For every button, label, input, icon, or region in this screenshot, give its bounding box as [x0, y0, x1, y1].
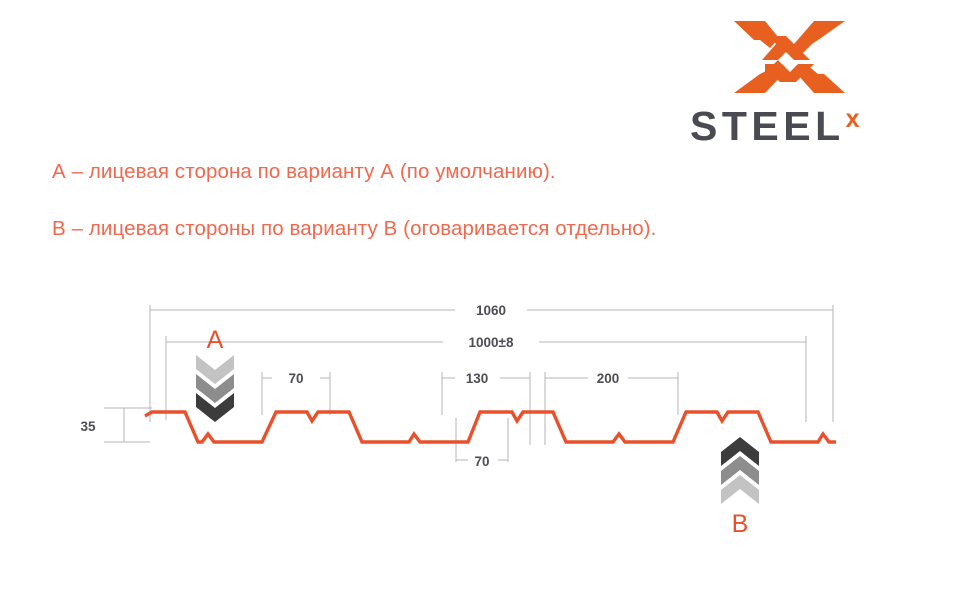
dimension-label-1060: 1060: [476, 303, 506, 318]
logo-superscript-text: x: [846, 107, 860, 132]
description-variant-b: В – лицевая стороны по варианту В (огова…: [52, 217, 656, 241]
steelx-x-mark-icon: [732, 18, 847, 96]
marker-a: А: [196, 326, 234, 422]
logo-wordmark: STEEL x: [690, 106, 905, 148]
profile-cross-section-drawing: 1060 1000±8 70 130 200 70 35 А B: [0, 270, 970, 570]
logo-word-text: STEEL: [690, 106, 845, 147]
dimension-label-valley-70: 70: [474, 454, 489, 469]
marker-b: B: [721, 437, 759, 538]
dimension-label-200: 200: [597, 371, 620, 386]
profile-outline-path: [145, 412, 836, 442]
dimension-label-130: 130: [466, 371, 489, 386]
dimension-label-35: 35: [80, 419, 96, 434]
logo-block: STEEL x: [690, 18, 905, 143]
marker-a-label: А: [207, 326, 224, 354]
description-variant-a: А – лицевая сторона по варианту А (по ум…: [52, 160, 556, 184]
dimension-label-crest-70: 70: [288, 371, 303, 386]
marker-b-label: B: [732, 510, 749, 538]
dimension-label-1000: 1000±8: [469, 335, 514, 350]
